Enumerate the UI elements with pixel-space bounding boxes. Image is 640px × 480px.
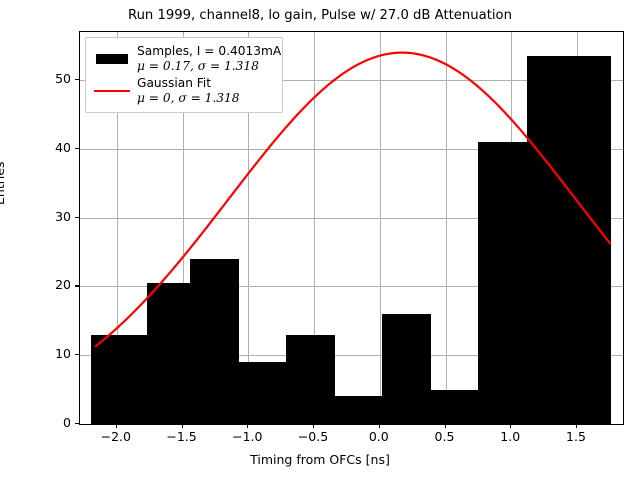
y-tick-mark <box>75 285 79 286</box>
x-tick-label: 1.5 <box>541 429 611 444</box>
legend-label-gaussian-fit: Gaussian Fit μ = 0, σ = 1.318 <box>137 76 240 106</box>
x-axis-label: Timing from OFCs [ns] <box>0 452 640 467</box>
legend-samples-line2: μ = 0.17, σ = 1.318 <box>137 59 281 74</box>
legend-fit-mu: μ = 0, <box>137 91 178 105</box>
y-tick-mark <box>75 148 79 149</box>
legend-fit-sigma: σ = 1.318 <box>178 91 239 105</box>
y-tick-mark <box>75 217 79 218</box>
legend-samples-mu: μ = 0.17, <box>137 59 198 73</box>
x-tick-mark <box>576 424 577 428</box>
y-axis-label: Entries <box>0 161 7 205</box>
chart-title: Run 1999, channel8, lo gain, Pulse w/ 27… <box>0 8 640 23</box>
filled-rectangle-icon <box>96 54 128 64</box>
x-tick-mark <box>379 424 380 428</box>
legend-fit-line2: μ = 0, σ = 1.318 <box>137 91 240 106</box>
legend-label-samples: Samples, I = 0.4013mA μ = 0.17, σ = 1.31… <box>137 44 281 74</box>
y-tick-label: 50 <box>9 71 71 86</box>
x-tick-mark <box>182 424 183 428</box>
y-tick-label: 30 <box>9 209 71 224</box>
x-tick-mark <box>247 424 248 428</box>
x-tick-mark <box>116 424 117 428</box>
x-tick-label: 1.0 <box>475 429 545 444</box>
legend-samples-sigma: σ = 1.318 <box>198 59 259 73</box>
y-tick-label: 20 <box>9 277 71 292</box>
legend-entry-gaussian-fit: Gaussian Fit μ = 0, σ = 1.318 <box>92 75 276 107</box>
legend-entry-samples: Samples, I = 0.4013mA μ = 0.17, σ = 1.31… <box>92 43 276 75</box>
x-tick-mark <box>313 424 314 428</box>
x-tick-label: 0.5 <box>410 429 480 444</box>
x-tick-label: −2.0 <box>81 429 151 444</box>
matplotlib-figure: Run 1999, channel8, lo gain, Pulse w/ 27… <box>0 0 640 480</box>
legend-marker-gaussian-fit <box>92 80 132 102</box>
x-tick-label: −1.5 <box>147 429 217 444</box>
x-tick-label: −0.5 <box>278 429 348 444</box>
y-tick-label: 0 <box>9 415 71 430</box>
x-tick-label: 0.0 <box>344 429 414 444</box>
x-tick-mark <box>445 424 446 428</box>
y-tick-label: 10 <box>9 346 71 361</box>
y-tick-label: 40 <box>9 140 71 155</box>
y-tick-mark <box>75 423 79 424</box>
y-tick-mark <box>75 354 79 355</box>
y-tick-mark <box>75 79 79 80</box>
x-tick-label: −1.0 <box>212 429 282 444</box>
legend-marker-samples <box>92 48 132 70</box>
line-icon <box>94 90 130 92</box>
chart-legend: Samples, I = 0.4013mA μ = 0.17, σ = 1.31… <box>85 37 283 113</box>
legend-samples-line1: Samples, I = 0.4013mA <box>137 44 281 58</box>
x-tick-mark <box>510 424 511 428</box>
legend-fit-line1: Gaussian Fit <box>137 76 211 90</box>
